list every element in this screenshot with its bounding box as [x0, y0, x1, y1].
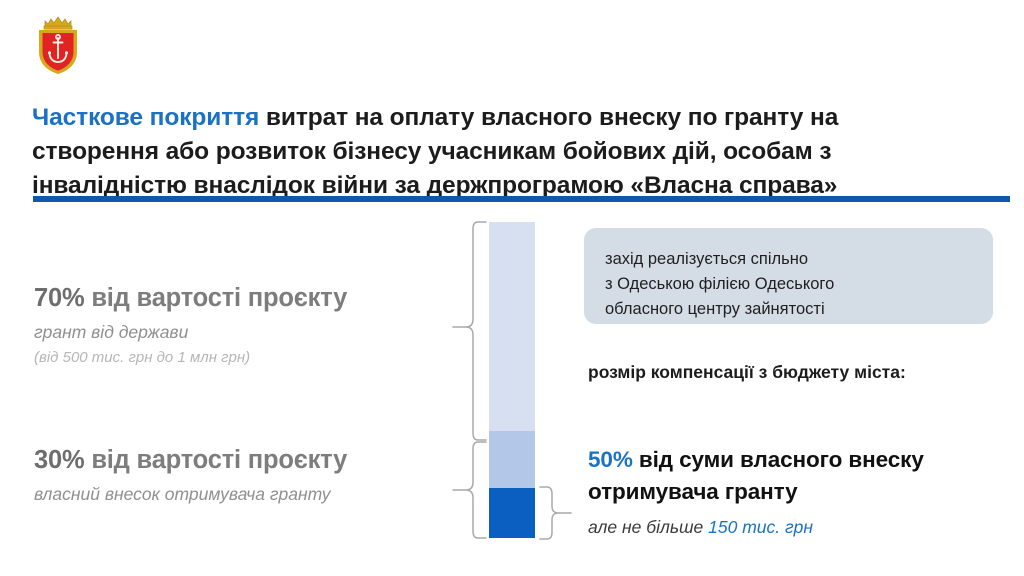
own-contribution-percent: 30%	[34, 446, 84, 474]
compensation-offer-note-prefix: але не більше	[588, 517, 708, 537]
compensation-offer-percent: 50%	[588, 447, 633, 472]
grant-share-headline-rest: від вартості проєкту	[84, 284, 347, 312]
grant-share-percent: 70%	[34, 284, 84, 312]
funding-stacked-bar	[489, 222, 535, 538]
grant-share-block: 70% від вартості проєкту грант від держа…	[34, 283, 454, 367]
partner-note-line-1: захід реалізується спільно	[605, 247, 993, 272]
compensation-offer-headline-rest: від суми власного внеску отримувача гран…	[588, 447, 924, 504]
own-contribution-subline: власний внесок отримувача гранту	[34, 483, 454, 506]
bar-segment-own-contribution	[489, 431, 535, 488]
compensation-label: розмір компенсації з бюджету міста:	[588, 362, 906, 383]
header-divider	[33, 196, 1010, 202]
page-title: Часткове покриття витрат на оплату власн…	[32, 101, 932, 202]
own-contribution-block: 30% від вартості проєкту власний внесок …	[34, 445, 454, 506]
partner-note-box: захід реалізується спільно з Одеською фі…	[584, 228, 993, 324]
grant-share-amount-range: (від 500 тис. грн до 1 млн грн)	[34, 348, 454, 368]
bar-segment-grant	[489, 222, 535, 431]
partner-note-line-3: обласного центру зайнятості	[605, 297, 993, 322]
compensation-offer-headline: 50% від суми власного внеску отримувача …	[588, 444, 1008, 508]
odesa-coat-of-arms-icon	[32, 14, 84, 76]
compensation-offer-note: але не більше 150 тис. грн	[588, 517, 1008, 538]
bracket-30-percent	[452, 440, 488, 540]
bar-segment-city-compensation	[489, 488, 535, 538]
bracket-70-percent	[452, 220, 488, 442]
own-contribution-headline: 30% від вартості проєкту	[34, 445, 454, 475]
partner-note-line-2: з Одеською філією Одеського	[605, 272, 993, 297]
compensation-offer-block: 50% від суми власного внеску отримувача …	[588, 444, 1008, 538]
page-title-accent: Часткове покриття	[32, 104, 259, 131]
slide-root: Часткове покриття витрат на оплату власн…	[0, 0, 1024, 576]
own-contribution-headline-rest: від вартості проєкту	[84, 446, 347, 474]
compensation-offer-cap-amount: 150 тис. грн	[708, 517, 813, 537]
grant-share-headline: 70% від вартості проєкту	[34, 283, 454, 313]
grant-share-subline: грант від держави	[34, 321, 454, 344]
bracket-50-percent-compensation	[538, 486, 576, 540]
